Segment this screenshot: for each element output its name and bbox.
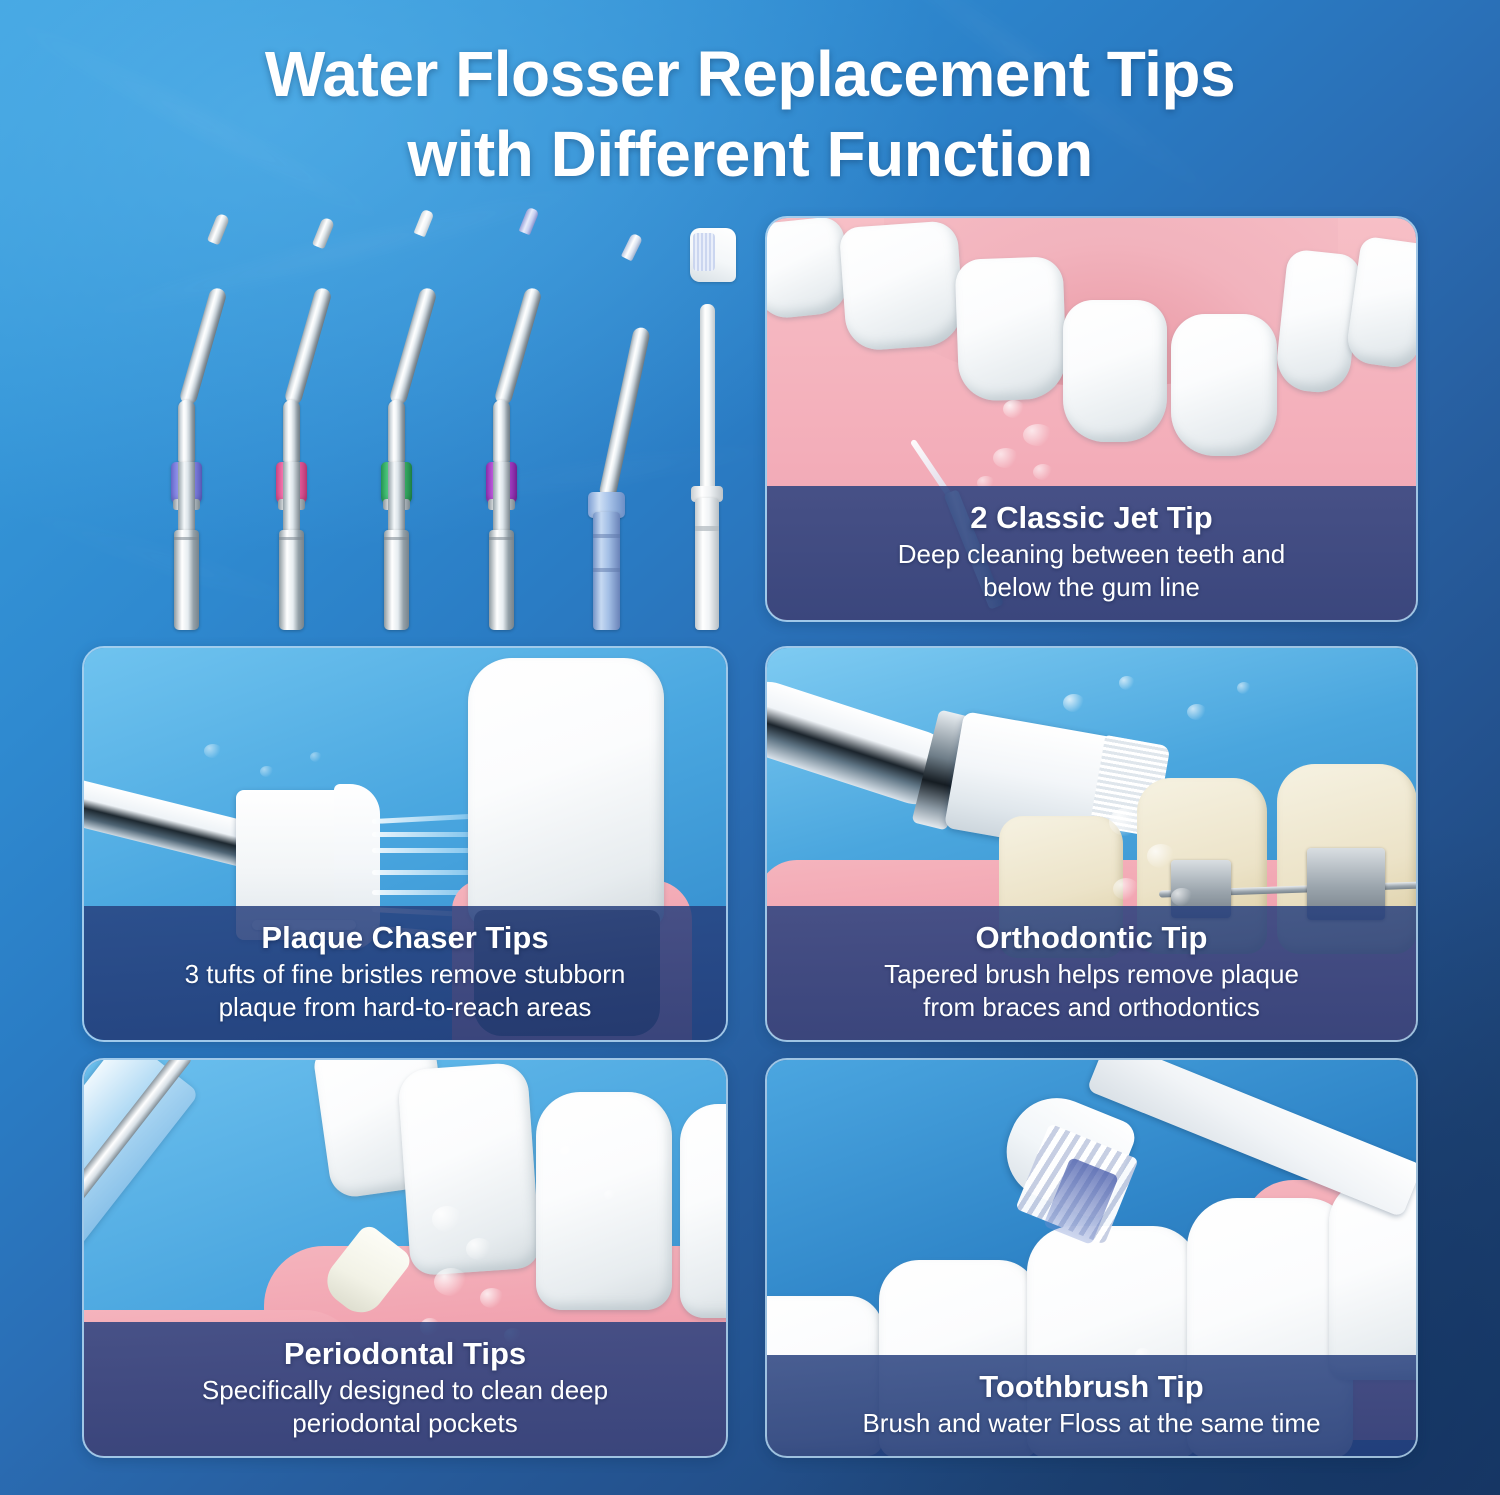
- tip-toothbrush-white: [682, 210, 742, 630]
- tip-orthodontic-blue: [582, 210, 642, 630]
- water-droplet: [1187, 704, 1207, 720]
- water-droplet: [480, 1288, 504, 1308]
- incisor: [536, 1092, 672, 1310]
- card-orthodontic[interactable]: Orthodontic Tip Tapered brush helps remo…: [765, 646, 1418, 1042]
- tip-base: [384, 530, 409, 630]
- tip-base: [279, 530, 304, 630]
- card-desc-line-1: Specifically designed to clean deep: [108, 1374, 702, 1407]
- toothbrush-handle: [1087, 1058, 1418, 1217]
- tip-lower-shaft: [493, 462, 510, 534]
- incisor: [1345, 236, 1418, 371]
- tip-lower-shaft: [178, 462, 195, 534]
- tip-tapered-brush: [621, 233, 643, 262]
- premolar: [1063, 300, 1167, 442]
- tip-classic-jet-pink: [267, 210, 327, 630]
- water-droplet: [1023, 424, 1053, 446]
- toothbrush-bristles: [693, 233, 715, 271]
- card-title: Toothbrush Tip: [791, 1367, 1392, 1407]
- water-droplet: [1003, 400, 1025, 418]
- premolar: [1171, 314, 1277, 456]
- card-title: Periodontal Tips: [108, 1334, 702, 1374]
- tip-neck: [178, 286, 227, 406]
- molar: [765, 216, 852, 321]
- card-periodontal[interactable]: Periodontal Tips Specifically designed t…: [82, 1058, 728, 1458]
- tip-stem: [700, 304, 715, 500]
- card-desc-line-1: Brush and water Floss at the same time: [791, 1407, 1392, 1440]
- card-toothbrush[interactable]: Toothbrush Tip Brush and water Floss at …: [765, 1058, 1418, 1458]
- card-title: Orthodontic Tip: [791, 918, 1392, 958]
- tip-lower-shaft: [283, 462, 300, 534]
- tip-shaft: [388, 400, 405, 462]
- tip-lower-shaft: [388, 462, 405, 534]
- water-droplet: [1109, 808, 1143, 836]
- water-droplet: [466, 1238, 492, 1260]
- water-droplet: [260, 766, 274, 777]
- water-droplet: [560, 1146, 574, 1158]
- molar: [839, 220, 965, 352]
- card-caption-classic-jet: 2 Classic Jet Tip Deep cleaning between …: [767, 486, 1416, 620]
- title-line-1: Water Flosser Replacement Tips: [90, 34, 1410, 114]
- tip-base: [174, 530, 199, 630]
- tip-nozzle-point: [312, 217, 335, 250]
- water-droplet: [993, 448, 1019, 468]
- tip-bristle-head: [414, 209, 435, 238]
- tip-shaft: [178, 400, 195, 462]
- tooth-crown: [468, 658, 664, 926]
- toothbrush-head: [690, 228, 736, 282]
- tips-lineup: [82, 210, 727, 630]
- card-caption-orthodontic: Orthodontic Tip Tapered brush helps remo…: [767, 906, 1416, 1040]
- page-title: Water Flosser Replacement Tips with Diff…: [0, 34, 1500, 194]
- card-desc-line-1: Tapered brush helps remove plaque: [791, 958, 1392, 991]
- card-desc-line-1: Deep cleaning between teeth and: [791, 538, 1392, 571]
- product-infographic: Water Flosser Replacement Tips with Diff…: [0, 0, 1500, 1495]
- water-droplet: [1119, 676, 1135, 690]
- water-droplet: [1033, 464, 1053, 480]
- water-droplet: [1063, 694, 1085, 712]
- tip-periodontal-purple: [477, 210, 537, 630]
- water-droplet: [1237, 682, 1251, 694]
- water-droplet: [1147, 844, 1175, 868]
- water-droplet: [1171, 888, 1193, 906]
- tip-neck: [493, 286, 542, 406]
- card-desc-line-2: periodontal pockets: [108, 1407, 702, 1440]
- tip-soft-point: [519, 207, 540, 236]
- tip-plastic-body: [593, 512, 620, 630]
- card-classic-jet[interactable]: 2 Classic Jet Tip Deep cleaning between …: [765, 216, 1418, 622]
- tip-plaque-chaser-green: [372, 210, 432, 630]
- card-desc-line-1: 3 tufts of fine bristles remove stubborn: [108, 958, 702, 991]
- incisor: [680, 1104, 728, 1318]
- card-desc-line-2: below the gum line: [791, 571, 1392, 604]
- tip-shaft: [493, 400, 510, 462]
- tip-neck: [598, 326, 651, 500]
- card-title: 2 Classic Jet Tip: [791, 498, 1392, 538]
- tip-neck: [283, 286, 332, 406]
- card-caption-periodontal: Periodontal Tips Specifically designed t…: [84, 1322, 726, 1456]
- card-desc-line-2: plaque from hard-to-reach areas: [108, 991, 702, 1024]
- water-droplet: [604, 1190, 616, 1200]
- card-caption-plaque-chaser: Plaque Chaser Tips 3 tufts of fine brist…: [84, 906, 726, 1040]
- tip-shaft: [283, 400, 300, 462]
- tip-plastic-body: [695, 498, 719, 630]
- card-desc-line-2: from braces and orthodontics: [791, 991, 1392, 1024]
- water-droplet: [432, 1206, 462, 1232]
- water-droplet: [434, 1268, 468, 1296]
- card-title: Plaque Chaser Tips: [108, 918, 702, 958]
- water-droplet: [204, 744, 222, 758]
- tip-classic-jet-blue: [162, 210, 222, 630]
- tip-base: [489, 530, 514, 630]
- molar: [955, 256, 1068, 402]
- tip-neck: [388, 286, 437, 406]
- title-line-2: with Different Function: [90, 114, 1410, 194]
- water-droplet: [310, 752, 322, 762]
- water-droplet: [1113, 878, 1139, 900]
- card-caption-toothbrush: Toothbrush Tip Brush and water Floss at …: [767, 1355, 1416, 1456]
- card-plaque-chaser[interactable]: Plaque Chaser Tips 3 tufts of fine brist…: [82, 646, 728, 1042]
- tip-nozzle-point: [207, 213, 230, 246]
